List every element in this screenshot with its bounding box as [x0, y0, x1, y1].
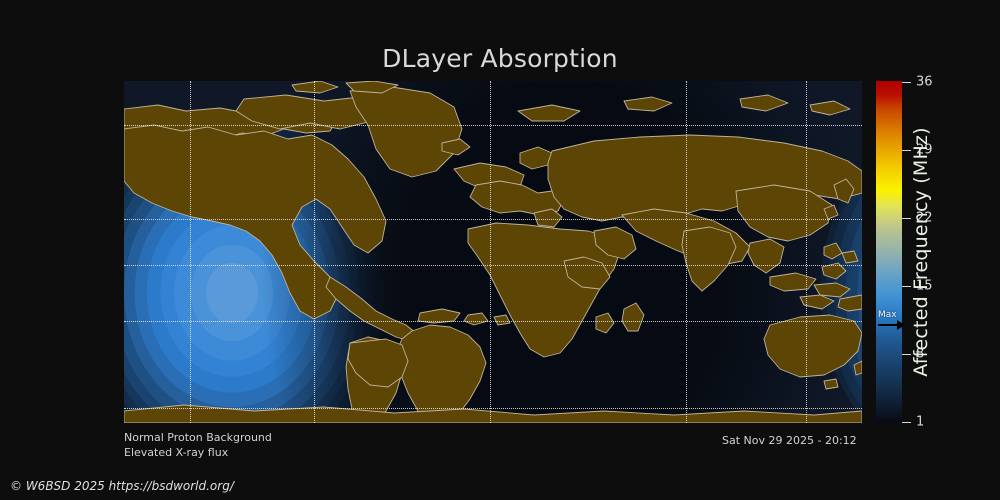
status-line-proton: Normal Proton Background	[124, 430, 272, 445]
status-line-xray: Elevated X-ray flux	[124, 445, 272, 460]
colorbar[interactable]: 36 29 22 15 8 1	[876, 81, 902, 423]
colorbar-axis-label: Affected Frequency (MHz)	[903, 81, 939, 423]
dlayer-absorption-app: DLayer Absorption	[0, 0, 1000, 500]
timestamp: Sat Nov 29 2025 - 20:12	[722, 434, 857, 447]
page-title: DLayer Absorption	[0, 44, 1000, 73]
copyright-footer: © W6BSD 2025 https://bsdworld.org/	[10, 479, 234, 493]
colorbar-gradient	[876, 81, 902, 423]
world-map[interactable]	[124, 81, 862, 423]
graticule	[124, 81, 862, 423]
status-text: Normal Proton Background Elevated X-ray …	[124, 430, 272, 460]
colorbar-axis-label-text: Affected Frequency (MHz)	[910, 127, 932, 377]
